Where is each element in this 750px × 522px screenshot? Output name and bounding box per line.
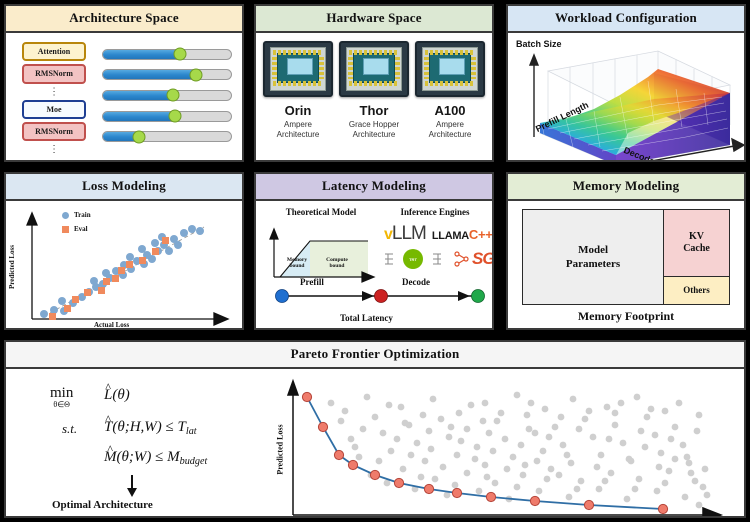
arch-slider-2[interactable] [102,69,232,80]
pareto-scatter-svg [271,369,741,516]
chip-icon [263,41,333,97]
objective-expression: ^L(θ) [104,387,130,404]
arch-slider-1[interactable] [102,49,232,60]
panel-body-pareto-frontier-optimization: min θ∈Θ ^L(θ) s.t. ^T(θ;H,W) ≤ Tlat ^M(θ… [6,369,744,516]
pareto-frontier-chart: Total Latency (ms) Predicted Loss [271,369,744,516]
tensorrt-logo-icon: TRT [384,249,442,269]
arch-block-moe[interactable]: Moe [22,100,86,119]
legend-label: Train [74,211,91,219]
slider-thumb[interactable] [173,48,186,61]
constraint-memory: ^M(θ;W) ≤ Mbudget [104,449,207,467]
loss-yaxis-label: Predicted Loss [8,245,16,289]
llama-cpp-logo-icon: LLAMAC++ [432,227,492,242]
hardware-name: Orin [261,103,335,118]
loss-legend-train: Train [62,211,91,219]
arch-slider-4[interactable] [102,111,232,122]
slider-fill [103,91,173,100]
panel-body-memory-modeling: Model Parameters KV Cache Others Memory … [508,201,744,328]
pareto-frontier-line [307,397,663,509]
panel-body-loss-modeling: Train Eval Actual Loss Predicted Loss [6,201,242,328]
arch-ellipsis-2: ⋮ [50,144,59,154]
slider-fill [103,112,175,121]
hardware-item-thor[interactable]: Thor Grace Hopper Architecture [337,41,411,140]
memory-footprint-diagram: Model Parameters KV Cache Others [522,209,730,305]
timeline-dot-middle [375,290,388,303]
timeline-dot-start [276,290,289,303]
loss-scatter-plot [6,201,242,328]
panel-body-architecture-space: Attention RMSNorm ⋮ Moe RMSNorm ⋮ [6,33,242,160]
memory-segment-others: Others [664,277,729,304]
slider-thumb[interactable] [132,130,145,143]
ellipsis-glyph: ⋮ [50,146,59,154]
panel-title-memory-modeling: Memory Modeling [508,174,744,201]
panel-body-workload-configuration: Batch Size Prefill Length Decode Length [508,33,744,160]
chip-icon [339,41,409,97]
engine-logo-row-2: TRT SGL [384,249,492,269]
hardware-name: A100 [413,103,487,118]
hardware-item-a100[interactable]: A100 Ampere Architecture [413,41,487,140]
roofline-compute-bound-label: Compute bound [318,257,356,269]
panel-latency-modeling: Latency Modeling Theoretical Model Infer… [254,172,494,330]
arch-block-rmsnorm-1[interactable]: RMSNorm [22,64,86,83]
optimal-architecture-expression: θ* = (l*, d*, r*, dm*, ρ*) [56,515,189,516]
panel-title-architecture-space: Architecture Space [6,6,242,33]
memory-footprint-caption: Memory Footprint [522,309,730,324]
architecture-block-stack: Attention RMSNorm ⋮ Moe RMSNorm ⋮ [12,38,96,155]
panel-title-workload-configuration: Workload Configuration [508,6,744,33]
legend-circle-icon [62,212,69,219]
latency-timeline [262,281,490,311]
panel-architecture-space: Architecture Space Attention RMSNorm ⋮ M… [4,4,244,162]
hardware-item-orin[interactable]: Orin Ampere Architecture [261,41,335,140]
theoretical-model-heading: Theoretical Model [266,207,376,217]
arch-slider-3[interactable] [102,90,232,101]
legend-square-icon [62,226,69,233]
arch-slider-5[interactable] [102,131,232,142]
candidate-points [328,392,711,509]
panel-workload-configuration: Workload Configuration [506,4,746,162]
optimization-formulation: min θ∈Θ ^L(θ) s.t. ^T(θ;H,W) ≤ Tlat ^M(θ… [6,369,271,516]
hardware-name: Thor [337,103,411,118]
sglang-logo-icon: SGL [454,249,492,269]
timeline-prefill-label: Prefill [300,277,324,287]
panel-title-pareto-frontier-optimization: Pareto Frontier Optimization [6,342,744,369]
engine-logo-row-1: vLLM LLAMAC++ [384,223,492,245]
panel-loss-modeling: Loss Modeling [4,172,244,330]
constraint-latency: ^T(θ;H,W) ≤ Tlat [104,419,197,437]
slider-thumb[interactable] [168,110,181,123]
legend-label: Eval [74,225,88,233]
architecture-slider-group [96,38,236,155]
min-domain-label: θ∈Θ [50,400,73,409]
slider-fill [103,50,180,59]
slider-thumb[interactable] [190,68,203,81]
timeline-dot-end [472,290,485,303]
pareto-yaxis-label: Predicted Loss [276,424,285,474]
timeline-total-latency-label: Total Latency [340,313,393,323]
panel-body-latency-modeling: Theoretical Model Inference Engines Memo… [256,201,492,328]
hardware-architecture: Ampere Architecture [413,120,487,140]
panel-pareto-frontier-optimization: Pareto Frontier Optimization min θ∈Θ ^L(… [4,340,746,518]
panel-title-hardware-space: Hardware Space [256,6,492,33]
inference-engines-heading: Inference Engines [382,207,488,217]
panel-title-loss-modeling: Loss Modeling [6,174,242,201]
slider-fill [103,70,196,79]
constraint-label: s.t. [62,421,77,437]
memory-segment-kv-cache: KV Cache [664,210,729,277]
arch-ellipsis-1: ⋮ [50,87,59,97]
surface-plot-3d [508,33,744,160]
timeline-decode-label: Decode [402,277,430,287]
optimal-architecture-label: Optimal Architecture [52,499,153,511]
loss-xaxis-label: Actual Loss [94,321,129,328]
figure-board: Architecture Space Attention RMSNorm ⋮ M… [0,0,750,522]
memory-segment-model-parameters: Model Parameters [523,210,664,304]
hardware-architecture: Grace Hopper Architecture [337,120,411,140]
down-arrow-icon [122,473,142,499]
loss-legend-eval: Eval [62,225,88,233]
arch-block-rmsnorm-2[interactable]: RMSNorm [22,122,86,141]
ellipsis-glyph: ⋮ [50,88,59,96]
roofline-memory-bound-label: Memory bound [280,257,314,269]
panel-memory-modeling: Memory Modeling Model Parameters KV Cach… [506,172,746,330]
vllm-logo-icon: vLLM [384,223,426,245]
arch-block-attention[interactable]: Attention [22,42,86,61]
panel-hardware-space: Hardware Space Orin Ampere Architecture [254,4,494,162]
workload-zaxis-label: Batch Size [516,39,562,49]
hardware-architecture: Ampere Architecture [261,120,335,140]
chip-icon [415,41,485,97]
panel-body-hardware-space: Orin Ampere Architecture Thor Grace Hopp… [256,33,492,160]
panel-title-latency-modeling: Latency Modeling [256,174,492,201]
objective-min-operator: min θ∈Θ [50,385,73,409]
slider-thumb[interactable] [167,89,180,102]
